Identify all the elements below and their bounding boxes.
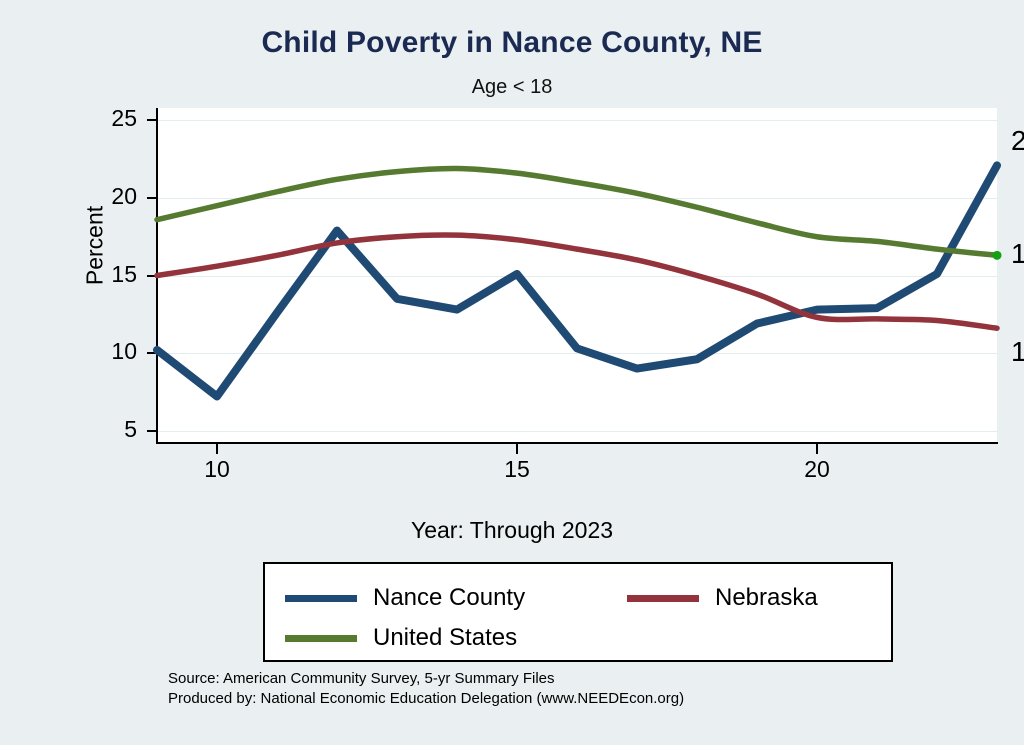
- y-tick-label: 10: [0, 338, 137, 365]
- chart-container: Child Poverty in Nance County, NE Age < …: [0, 0, 1024, 745]
- y-tick-mark: [147, 119, 156, 121]
- legend: Nance County Nebraska United States: [263, 562, 893, 662]
- x-axis-title: Year: Through 2023: [0, 517, 1024, 544]
- legend-item-nance-county[interactable]: Nance County: [285, 584, 525, 612]
- x-tick-label: 20: [804, 456, 830, 483]
- legend-item-nebraska[interactable]: Nebraska: [627, 584, 818, 612]
- series-lines: [157, 108, 997, 443]
- legend-label-nance-county: Nance County: [373, 584, 525, 612]
- legend-label-united-states: United States: [373, 624, 517, 652]
- legend-swatch-nebraska: [627, 595, 699, 602]
- x-tick-mark: [216, 444, 218, 454]
- y-tick-label: 20: [0, 183, 137, 210]
- y-tick-mark: [147, 197, 156, 199]
- x-tick-label: 15: [504, 456, 530, 483]
- chart-title: Child Poverty in Nance County, NE: [0, 26, 1024, 60]
- x-tick-label: 10: [204, 456, 230, 483]
- footer-producer: Produced by: National Economic Education…: [168, 689, 684, 709]
- legend-item-united-states[interactable]: United States: [285, 624, 517, 652]
- y-tick-label: 15: [0, 261, 137, 288]
- y-tick-label: 5: [0, 416, 137, 443]
- legend-swatch-united-states: [285, 635, 357, 642]
- legend-swatch-nance-county: [285, 595, 357, 602]
- y-tick-mark: [147, 430, 156, 432]
- series-endpoint-marker-united-states: [993, 251, 1002, 260]
- y-tick-label: 25: [0, 105, 137, 132]
- y-axis-title: Percent: [82, 146, 109, 346]
- footer: Source: American Community Survey, 5-yr …: [168, 669, 684, 710]
- end-label-nance-county: 22.1: [1011, 125, 1024, 157]
- end-label-united-states: 16.3: [1011, 238, 1024, 270]
- chart-subtitle: Age < 18: [0, 76, 1024, 99]
- end-label-nebraska: 11.6: [1011, 336, 1024, 368]
- x-tick-mark: [516, 444, 518, 454]
- series-line-united-states: [157, 168, 997, 255]
- x-tick-mark: [816, 444, 818, 454]
- legend-label-nebraska: Nebraska: [715, 584, 818, 612]
- series-line-nebraska: [157, 235, 997, 328]
- footer-source: Source: American Community Survey, 5-yr …: [168, 669, 684, 689]
- series-line-nance-county: [157, 165, 997, 396]
